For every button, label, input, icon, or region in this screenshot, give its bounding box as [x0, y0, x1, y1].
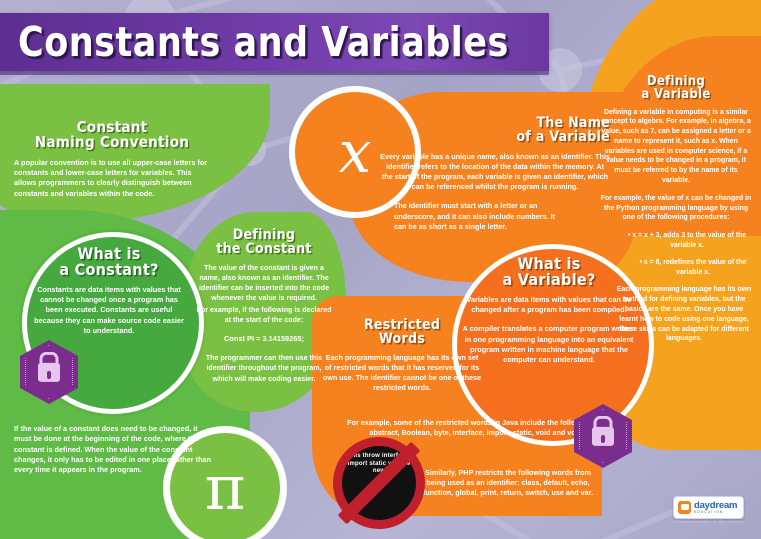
section-what-is-a-constant: What is a Constant? Constants are data i…: [34, 246, 184, 336]
what-is-a-variable-body: Variables are data items with values tha…: [460, 295, 638, 316]
name-of-a-variable-body: Every variable has a unique name, also k…: [380, 152, 610, 193]
defining-a-variable-bullet-1: • x = x + 3, adds 3 to the value of the …: [600, 231, 752, 251]
lock-icon-constant: [20, 340, 78, 404]
no-entry-icon: this throw interface import static volat…: [333, 437, 425, 529]
what-is-a-variable-body2: A compiler translates a computer program…: [460, 324, 638, 365]
what-is-a-variable-heading-2: a Variable?: [460, 272, 638, 288]
name-of-a-variable-heading-1: The Name: [380, 116, 610, 130]
name-of-a-variable-heading-2: of a Variable: [380, 130, 610, 144]
restricted-words-heading-1: Restricted: [322, 318, 482, 332]
defining-the-constant-body3: The programmer can then use this identif…: [196, 353, 332, 383]
section-restricted-words-java: For example, some of the restricted word…: [332, 418, 594, 438]
section-restricted-words: Restricted Words Each programming langua…: [322, 318, 482, 393]
lock-icon-variable: [574, 404, 632, 468]
section-defining-the-constant: Defining the Constant The value of the c…: [196, 228, 332, 384]
restricted-words-body2: For example, some of the restricted word…: [332, 418, 594, 438]
defining-a-variable-body2: For example, the value of x can be chang…: [600, 194, 752, 223]
defining-the-constant-heading-2: the Constant: [196, 242, 332, 256]
what-is-a-constant-heading-2: a Constant?: [34, 262, 184, 278]
logo-subtitle: EDUCATION: [694, 511, 737, 514]
what-is-a-constant-body: Constants are data items with values tha…: [34, 285, 184, 337]
restricted-words-body: Each programming language has its own se…: [322, 353, 482, 394]
poster-title-bar: Constants and Variables: [0, 13, 549, 71]
defining-a-variable-body: Defining a variable in computing is a si…: [600, 108, 752, 186]
title-underline: [0, 71, 549, 75]
daydream-logo-mark-icon: [678, 501, 691, 514]
defining-the-constant-body2: For example, if the following is declare…: [196, 305, 332, 325]
restricted-words-heading-2: Words: [322, 332, 482, 346]
section-what-is-a-variable: What is a Variable? Variables are data i…: [460, 256, 638, 366]
section-constant-naming-convention: Constant Naming Convention A popular con…: [14, 120, 210, 199]
daydream-education-logo[interactable]: daydream EDUCATION: [673, 496, 744, 519]
section-restricted-words-php: Similarly, PHP restricts the following w…: [420, 468, 596, 499]
defining-a-variable-heading-1: Defining: [600, 75, 752, 88]
defining-the-constant-heading-1: Defining: [196, 228, 332, 242]
defining-the-constant-code: Const PI = 3.14159265;: [196, 334, 332, 345]
logo-copyright: © Daydream Education. All rights reserve…: [673, 520, 744, 524]
what-is-a-constant-footer: If the value of a constant does need to …: [14, 424, 214, 476]
section-name-of-a-variable: The Name of a Variable Every variable ha…: [380, 116, 610, 232]
constant-naming-body: A popular convention is to use all upper…: [14, 158, 210, 199]
name-of-a-variable-body2: The identifier must start with a letter …: [380, 201, 564, 232]
variable-x-glyph: x: [339, 123, 372, 181]
page-title: Constants and Variables: [18, 18, 509, 66]
defining-the-constant-body: The value of the constant is given a nam…: [196, 263, 332, 303]
defining-a-variable-heading-2: a Variable: [600, 88, 752, 101]
constant-naming-heading-2: Naming Convention: [14, 135, 210, 150]
restricted-words-body3: Similarly, PHP restricts the following w…: [420, 468, 596, 499]
poster-canvas: x π Constants and Variables Constant Nam…: [0, 0, 761, 539]
section-constant-change-note: If the value of a constant does need to …: [14, 424, 214, 476]
